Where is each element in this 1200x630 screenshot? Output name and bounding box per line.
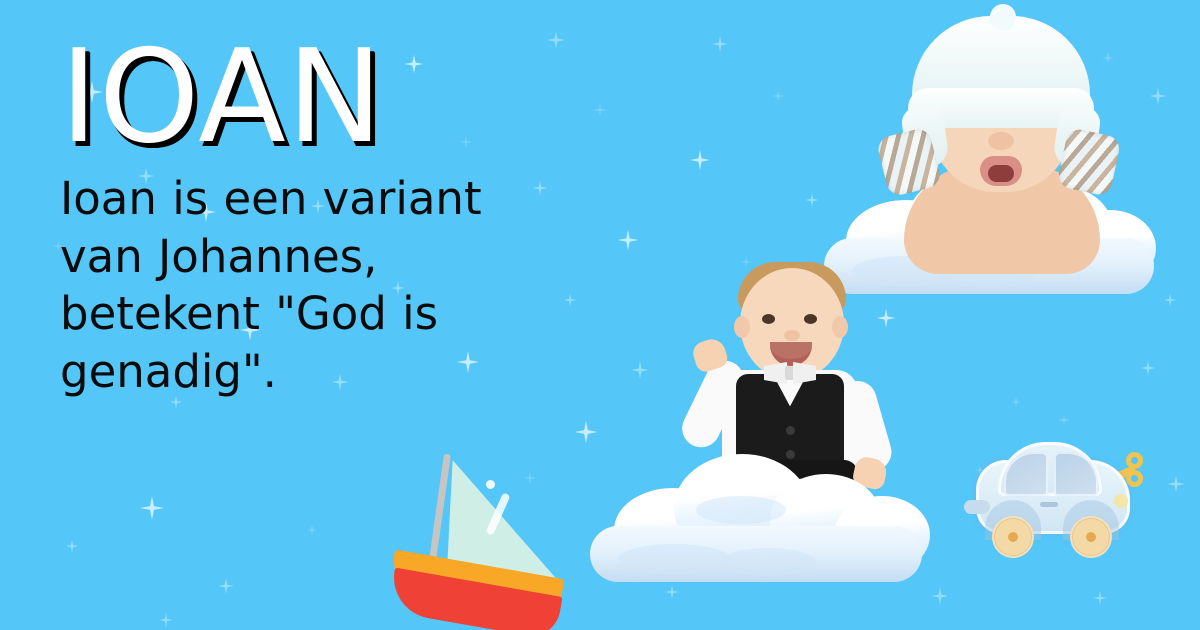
car-headlight xyxy=(1114,494,1128,508)
sparkle-star xyxy=(218,578,234,594)
baby-nose xyxy=(988,132,1014,150)
car-door-handle xyxy=(1040,502,1058,507)
sparkle-star xyxy=(1093,591,1107,605)
baby-eye-left xyxy=(762,314,775,324)
baby-eye-right xyxy=(804,314,817,324)
sparkle-star xyxy=(618,230,639,251)
baby-name-card: IOAN Ioan is een variant van Johannes, b… xyxy=(0,0,1200,630)
sparkle-star xyxy=(140,496,164,520)
sparkle-star xyxy=(1011,397,1022,408)
bow-tie xyxy=(764,362,816,384)
sparkle-star xyxy=(1167,475,1185,493)
sparkle-star xyxy=(690,150,710,170)
car-bumper xyxy=(964,500,990,514)
knit-hat-tassel-right xyxy=(1056,127,1121,197)
sparkle-star xyxy=(631,361,649,379)
sparkle-star xyxy=(712,36,728,52)
sparkle-star xyxy=(159,613,173,627)
sparkle-star xyxy=(594,104,606,116)
sparkle-star xyxy=(575,421,598,444)
car-wheel-rear xyxy=(992,516,1034,558)
sparkle-star xyxy=(307,525,318,536)
baby-with-hat-photo xyxy=(886,14,1116,239)
sparkle-star xyxy=(1150,88,1167,105)
sparkle-star xyxy=(1141,361,1156,376)
vest-button-top xyxy=(786,426,795,435)
baby-mouth xyxy=(980,156,1022,186)
car-wheel-front xyxy=(1070,516,1112,558)
car-window-right xyxy=(1054,452,1098,496)
wind-up-toy-car-icon xyxy=(968,438,1146,568)
sparkle-star xyxy=(932,588,949,605)
sparkle-star xyxy=(1058,414,1070,426)
sparkle-star xyxy=(665,585,679,599)
sailboat-highlight-dot xyxy=(486,480,495,489)
baby-nose xyxy=(784,330,800,341)
cloud-bottom-center xyxy=(578,448,928,580)
sailboat-icon xyxy=(398,448,558,618)
sparkle-star xyxy=(1164,294,1177,307)
baby-ear-right xyxy=(832,316,848,338)
baby-ear-left xyxy=(734,316,750,338)
name-meaning-description: Ioan is een variant van Johannes, beteke… xyxy=(60,170,530,400)
sparkle-star xyxy=(66,540,79,553)
sparkle-star xyxy=(772,90,784,102)
name-title: IOAN xyxy=(60,34,580,162)
text-block: IOAN Ioan is een variant van Johannes, b… xyxy=(60,34,580,400)
